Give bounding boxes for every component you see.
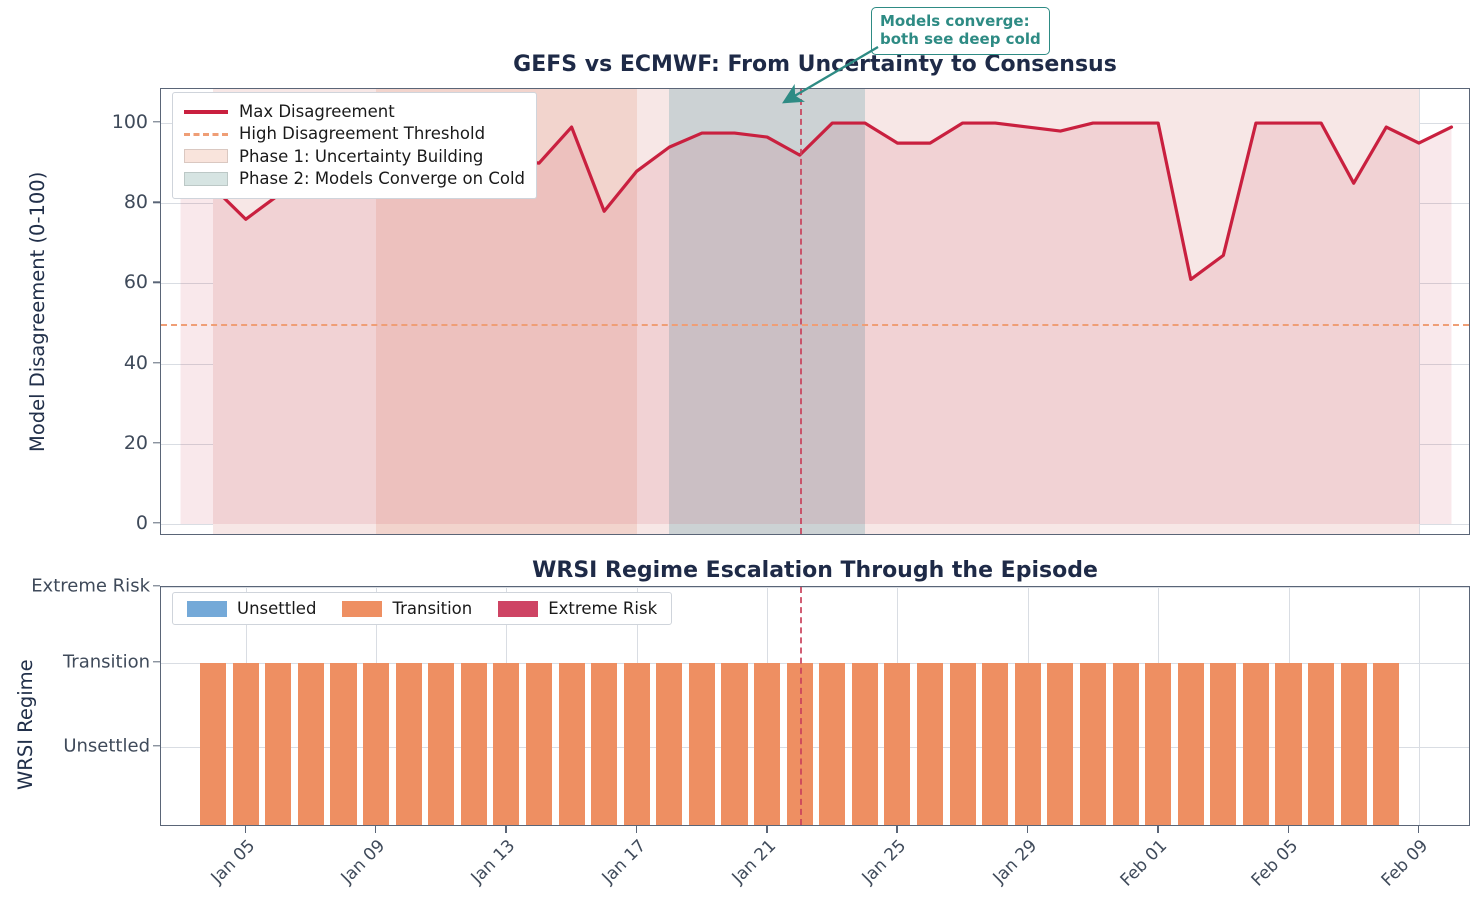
regime-bar[interactable]	[330, 663, 356, 825]
regime-bar[interactable]	[1243, 663, 1269, 825]
legend-item-transition: Transition	[342, 599, 472, 618]
y-tick-mark	[153, 585, 160, 586]
regime-y-tick-label: Transition	[0, 652, 150, 673]
regime-bar[interactable]	[721, 663, 747, 825]
legend-row-max-disagreement: Max Disagreement	[184, 100, 525, 123]
annotation-arrow-icon	[770, 45, 900, 115]
x-tick-mark	[1157, 826, 1158, 833]
legend-swatch-extreme-risk	[498, 601, 538, 617]
regime-bar[interactable]	[559, 663, 585, 825]
legend-row-phase1: Phase 1: Uncertainty Building	[184, 145, 525, 168]
regime-bar[interactable]	[396, 663, 422, 825]
y-tick-mark	[153, 522, 160, 523]
regime-bar[interactable]	[1341, 663, 1367, 825]
event-marker-line-top	[800, 89, 802, 534]
bottom-chart-title: WRSI Regime Escalation Through the Episo…	[160, 558, 1470, 583]
x-tick-mark	[375, 826, 376, 833]
legend-label-transition: Transition	[392, 599, 472, 618]
x-tick-label: Feb 05	[1220, 836, 1302, 918]
y-tick-mark	[153, 362, 160, 363]
regime-bar[interactable]	[917, 663, 943, 825]
gridline-vertical	[1419, 587, 1420, 825]
legend-item-unsettled: Unsettled	[187, 599, 316, 618]
gridline-horizontal	[161, 747, 1469, 748]
x-tick-label: Jan 25	[829, 836, 911, 918]
regime-bar[interactable]	[1308, 663, 1334, 825]
y-tick-mark	[153, 661, 160, 662]
x-tick-mark	[896, 826, 897, 833]
legend-label-phase1: Phase 1: Uncertainty Building	[239, 147, 483, 166]
y-tick-label: 0	[58, 512, 148, 534]
regime-bar[interactable]	[1275, 663, 1301, 825]
x-tick-mark	[245, 826, 246, 833]
regime-bar[interactable]	[1047, 663, 1073, 825]
regime-bar[interactable]	[819, 663, 845, 825]
regime-bar[interactable]	[1178, 663, 1204, 825]
regime-bar[interactable]	[754, 663, 780, 825]
x-tick-mark	[505, 826, 506, 833]
regime-bar[interactable]	[1113, 663, 1139, 825]
regime-bar[interactable]	[982, 663, 1008, 825]
regime-bar[interactable]	[1080, 663, 1106, 825]
regime-bar[interactable]	[624, 663, 650, 825]
y-tick-mark	[153, 202, 160, 203]
x-tick-label: Jan 29	[959, 836, 1041, 918]
regime-bar[interactable]	[233, 663, 259, 825]
legend-row-threshold: High Disagreement Threshold	[184, 123, 525, 146]
regime-bar[interactable]	[526, 663, 552, 825]
y-tick-label: 40	[58, 352, 148, 374]
y-tick-mark	[153, 442, 160, 443]
x-tick-label: Jan 17	[568, 836, 650, 918]
regime-bar[interactable]	[265, 663, 291, 825]
regime-bar[interactable]	[1145, 663, 1171, 825]
regime-bar[interactable]	[1015, 663, 1041, 825]
y-tick-label: 20	[58, 432, 148, 454]
x-tick-label: Feb 01	[1089, 836, 1171, 918]
regime-bar[interactable]	[1373, 663, 1399, 825]
event-marker-line-bottom	[800, 587, 802, 825]
regime-bar[interactable]	[656, 663, 682, 825]
legend-label-max-disagreement: Max Disagreement	[239, 102, 395, 121]
legend-row-phase2: Phase 2: Models Converge on Cold	[184, 168, 525, 191]
regime-bar[interactable]	[298, 663, 324, 825]
legend-key-line	[184, 103, 228, 119]
y-tick-mark	[153, 121, 160, 122]
legend-swatch-transition	[342, 601, 382, 617]
regime-bar[interactable]	[852, 663, 878, 825]
regime-bar[interactable]	[461, 663, 487, 825]
regime-bar[interactable]	[428, 663, 454, 825]
y-tick-mark	[153, 282, 160, 283]
x-tick-mark	[1418, 826, 1419, 833]
x-tick-label: Jan 13	[438, 836, 520, 918]
legend-label-unsettled: Unsettled	[237, 599, 316, 618]
regime-bar[interactable]	[1210, 663, 1236, 825]
x-tick-mark	[636, 826, 637, 833]
y-tick-label: 80	[58, 191, 148, 213]
high-disagreement-threshold-line	[161, 324, 1469, 326]
regime-bar[interactable]	[884, 663, 910, 825]
x-tick-label: Jan 09	[307, 836, 389, 918]
x-tick-mark	[1288, 826, 1289, 833]
regime-y-tick-label: Unsettled	[0, 736, 150, 757]
regime-bar[interactable]	[689, 663, 715, 825]
legend-label-extreme-risk: Extreme Risk	[548, 599, 657, 618]
gridline-horizontal	[161, 587, 1469, 588]
x-tick-label: Feb 09	[1350, 836, 1432, 918]
y-tick-mark	[153, 745, 160, 746]
legend-key-phase2-swatch	[184, 171, 228, 187]
legend-key-phase1-swatch	[184, 148, 228, 164]
legend-key-dashed-line	[184, 126, 228, 142]
regime-bar[interactable]	[950, 663, 976, 825]
y-tick-label: 100	[58, 111, 148, 133]
bottom-y-axis-label: WRSI Regime	[14, 659, 37, 790]
top-chart-legend[interactable]: Max Disagreement High Disagreement Thres…	[172, 92, 537, 199]
annotation-line-1: Models converge:	[880, 12, 1041, 30]
regime-bar[interactable]	[591, 663, 617, 825]
x-tick-mark	[766, 826, 767, 833]
x-tick-label: Jan 21	[698, 836, 780, 918]
x-tick-label: Jan 05	[177, 836, 259, 918]
figure-canvas: GEFS vs ECMWF: From Uncertainty to Conse…	[0, 0, 1473, 903]
top-y-axis-label: Model Disagreement (0-100)	[26, 172, 49, 452]
bottom-chart-legend[interactable]: Unsettled Transition Extreme Risk	[172, 592, 672, 625]
legend-swatch-unsettled	[187, 601, 227, 617]
legend-label-threshold: High Disagreement Threshold	[239, 124, 485, 143]
x-tick-mark	[1027, 826, 1028, 833]
legend-item-extreme-risk: Extreme Risk	[498, 599, 657, 618]
gridline-horizontal	[161, 663, 1469, 664]
legend-label-phase2: Phase 2: Models Converge on Cold	[239, 169, 525, 188]
regime-bar[interactable]	[363, 663, 389, 825]
regime-bar[interactable]	[200, 663, 226, 825]
annotation-line-2: both see deep cold	[880, 30, 1041, 48]
regime-y-tick-label: Extreme Risk	[0, 576, 150, 597]
y-tick-label: 60	[58, 271, 148, 293]
regime-bar[interactable]	[493, 663, 519, 825]
